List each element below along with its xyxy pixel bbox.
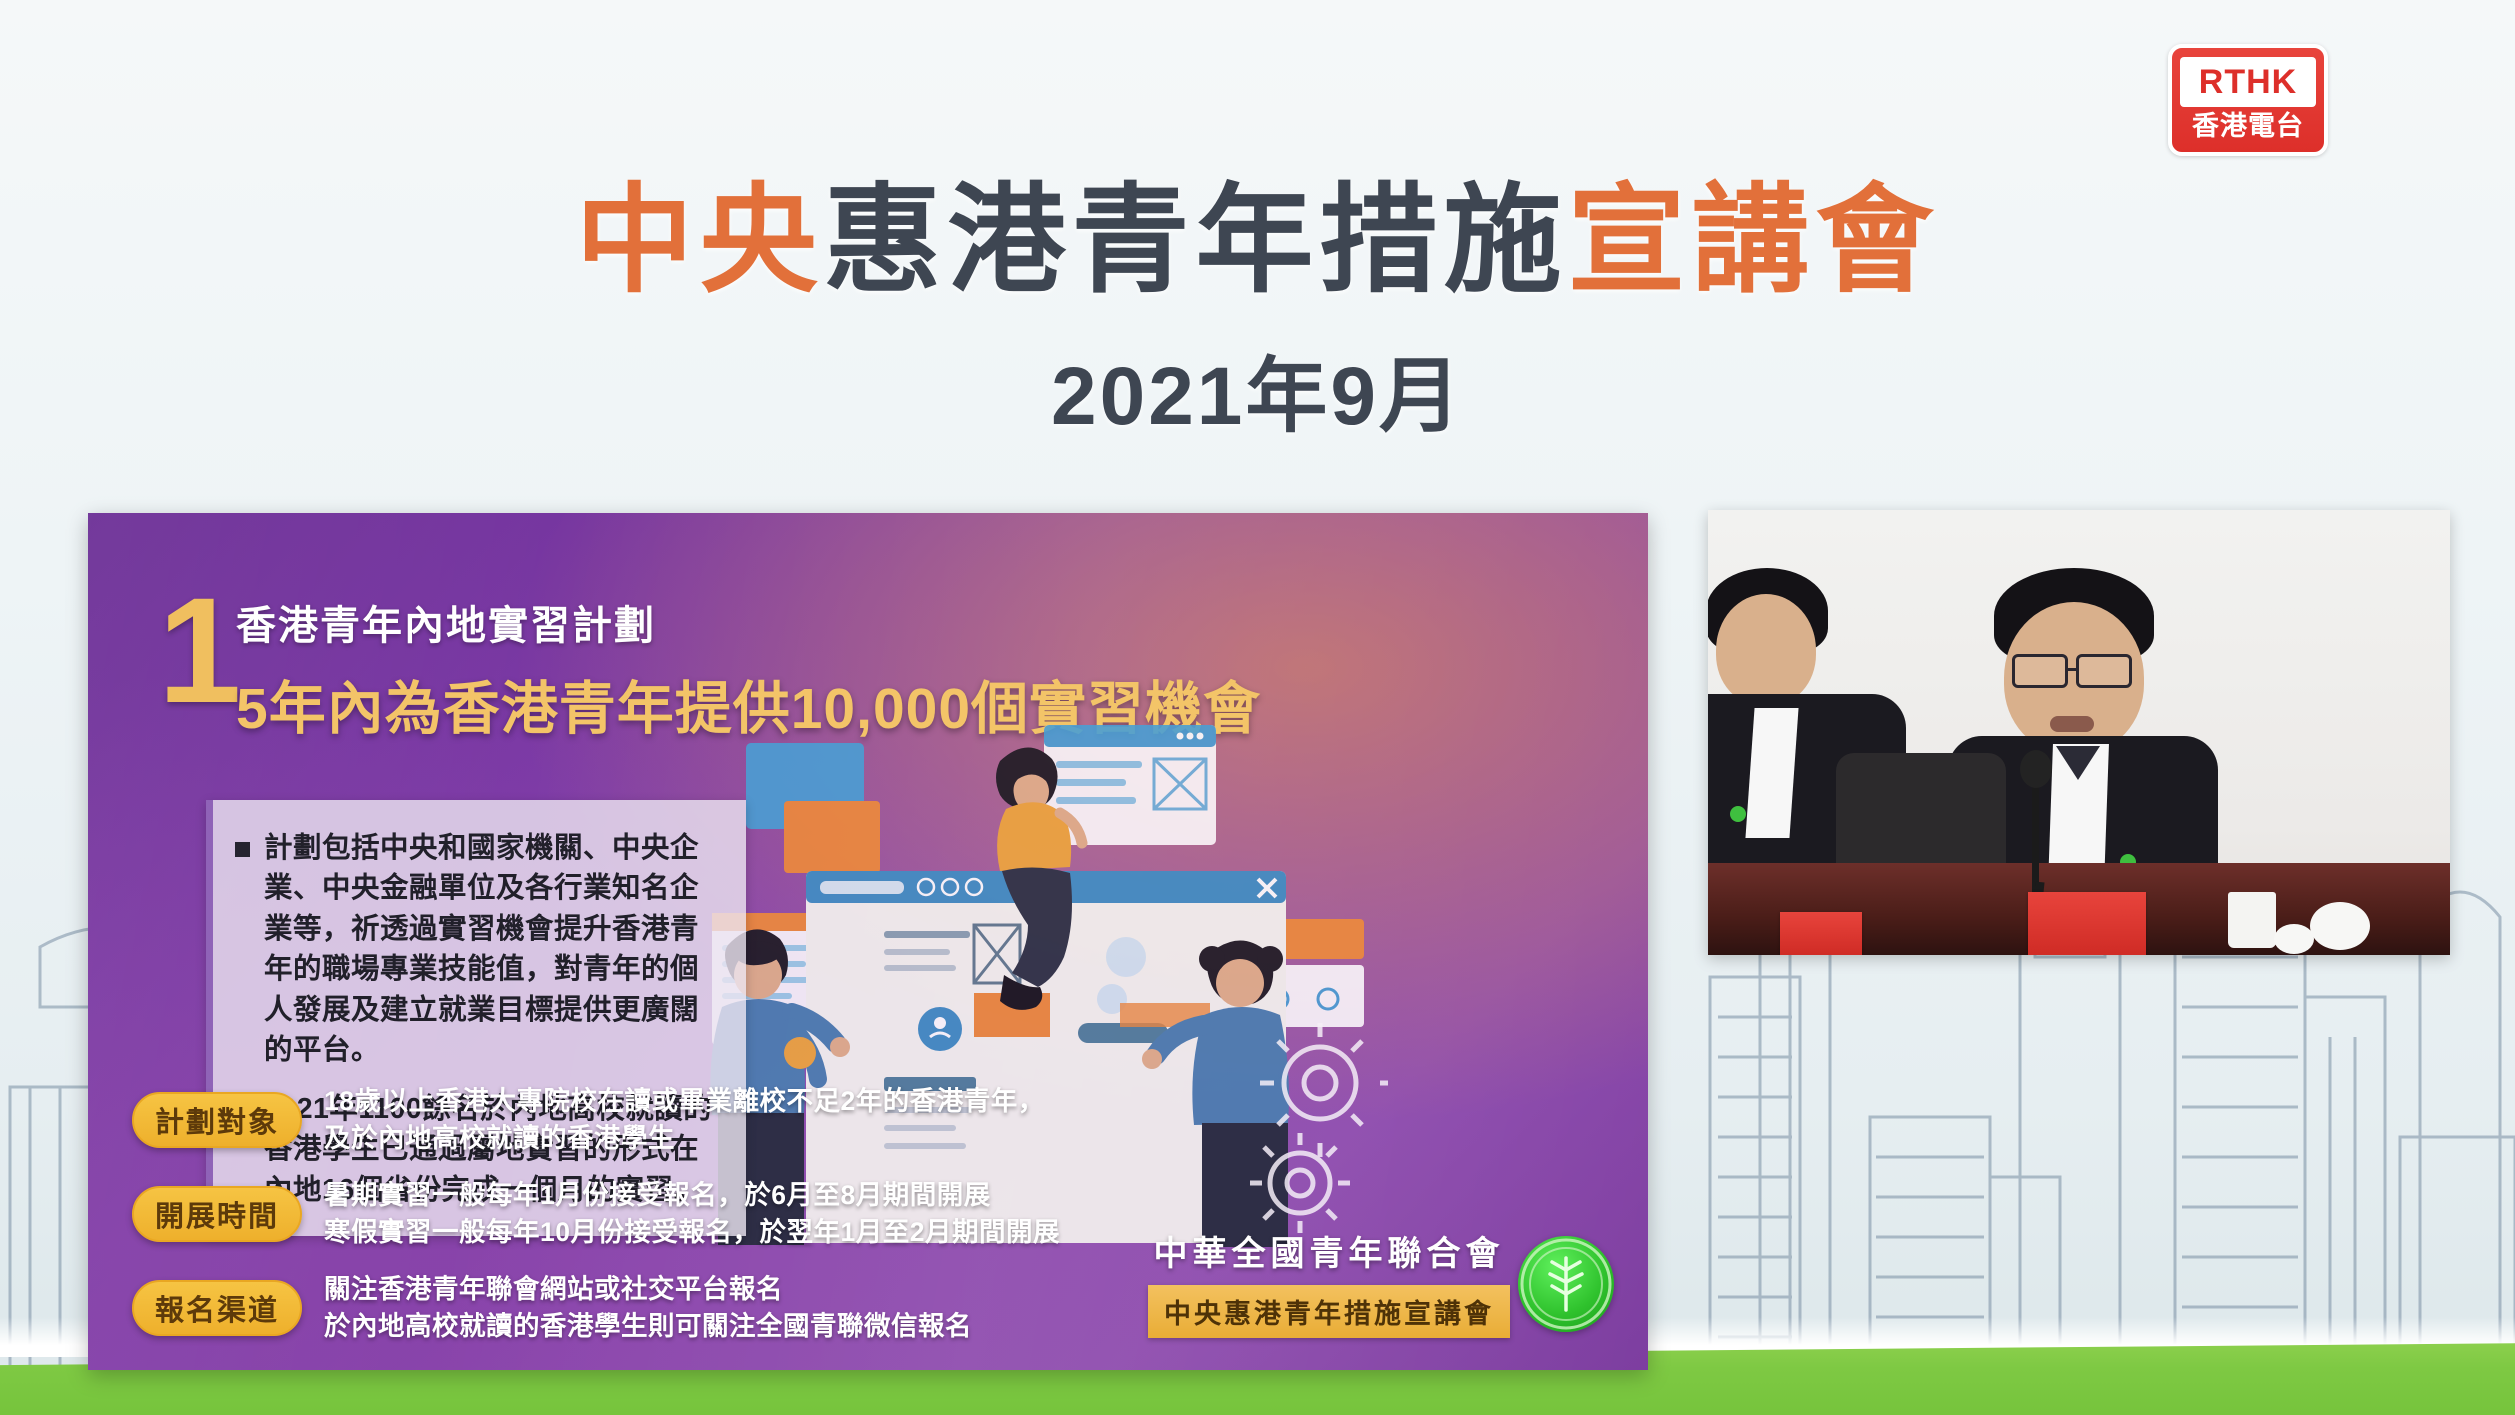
title-segment-orange-1: 中央 — [575, 175, 823, 307]
speaker-glasses-icon — [2076, 654, 2132, 688]
brand-event-band: 中央惠港青年措施宣講會 — [1148, 1285, 1510, 1338]
saucer — [2274, 924, 2314, 954]
broadcaster-logo: RTHK 香港電台 — [2168, 44, 2328, 156]
saucer — [2310, 902, 2370, 950]
detail-row-line: 18歲以上香港大專院校在讀或畢業離校不足2年的香港青年， — [324, 1083, 1045, 1120]
secondary-head — [1716, 594, 1816, 706]
programme-title-block: 中央惠港青年措施宣講會 2021年9月 — [0, 178, 2515, 448]
detail-row: 開展時間 暑期實習一般每年1月份接受報名，於6月至8月期間開展 寒假實習一般每年… — [132, 1177, 1232, 1251]
title-segment-dark: 惠港青年措施 — [823, 175, 1567, 307]
detail-row-label: 計劃對象 — [132, 1092, 302, 1148]
brand-organization: 中華全國青年聯合會 — [1148, 1226, 1510, 1275]
broadcaster-chinese-name: 香港電台 — [2192, 113, 2304, 140]
bullet-square-icon — [235, 842, 250, 857]
detail-row-text: 18歲以上香港大專院校在讀或畢業離校不足2年的香港青年， 及於內地高校就讀的香港… — [324, 1083, 1045, 1157]
speaker-mouth — [2050, 716, 2094, 732]
detail-row-line: 寒假實習一般每年10月份接受報名，於翌年1月至2月期間開展 — [324, 1214, 1060, 1251]
detail-row-line: 暑期實習一般每年1月份接受報名，於6月至8月期間開展 — [324, 1177, 1060, 1214]
seal-tree-glyph — [1518, 1236, 1614, 1332]
slide-eyebrow: 香港青年內地實習計劃 — [236, 593, 1261, 651]
bullet-text: 計劃包括中央和國家機關、中央企業、中央金融單位及各行業知名企業等，祈透過實習機會… — [264, 828, 720, 1071]
speaker-glasses-bridge — [2068, 668, 2078, 671]
detail-row: 報名渠道 關注香港青年聯會網站或社交平台報名 於內地高校就讀的香港學生則可關注全… — [132, 1271, 1232, 1345]
detail-row-label: 報名渠道 — [132, 1280, 302, 1336]
broadcast-screen: RTHK 香港電台 中央惠港青年措施宣講會 2021年9月 1 香港青年內地實習… — [0, 0, 2515, 1415]
live-video-feed — [1708, 510, 2450, 955]
title-segment-orange-2: 宣講會 — [1568, 175, 1940, 307]
secondary-shirt — [1745, 708, 1798, 838]
detail-row-label: 開展時間 — [132, 1186, 302, 1242]
detail-row-line: 於內地高校就讀的香港學生則可關注全國青聯微信報名 — [324, 1308, 972, 1345]
detail-row: 計劃對象 18歲以上香港大專院校在讀或畢業離校不足2年的香港青年， 及於內地高校… — [132, 1083, 1232, 1157]
slide-brand-footer: 中華全國青年聯合會 中央惠港青年措施宣講會 — [1148, 1226, 1510, 1338]
speaker-glasses-icon — [2012, 654, 2068, 688]
page-title: 中央惠港青年措施宣講會 — [0, 178, 2515, 305]
video-chair-back — [1836, 753, 2006, 863]
name-plate — [1780, 912, 1862, 955]
secondary-lapel-pin-icon — [1730, 806, 1746, 822]
slide-detail-rows: 計劃對象 18歲以上香港大專院校在讀或畢業離校不足2年的香港青年， 及於內地高校… — [132, 1083, 1232, 1366]
organization-seal-icon — [1518, 1236, 1614, 1332]
microphone-stand — [2032, 772, 2039, 892]
detail-row-text: 暑期實習一般每年1月份接受報名，於6月至8月期間開展 寒假實習一般每年10月份接… — [324, 1177, 1060, 1251]
name-plate — [2028, 892, 2146, 955]
slide-number: 1 — [158, 589, 241, 712]
presentation-slide: 1 香港青年內地實習計劃 5年內為香港青年提供10,000個實習機會 — [88, 513, 1648, 1370]
broadcaster-acronym-box: RTHK — [2180, 57, 2316, 107]
broadcaster-acronym: RTHK — [2199, 63, 2297, 102]
detail-row-text: 關注香港青年聯會網站或社交平台報名 於內地高校就讀的香港學生則可關注全國青聯微信… — [324, 1271, 972, 1345]
microphone-head-icon — [2020, 750, 2052, 788]
detail-row-line: 關注香港青年聯會網站或社交平台報名 — [324, 1271, 972, 1308]
title-date: 2021年9月 — [0, 329, 2515, 448]
detail-row-line: 及於內地高校就讀的香港學生 — [324, 1120, 1045, 1157]
bullet-item: 計劃包括中央和國家機關、中央企業、中央金融單位及各行業知名企業等，祈透過實習機會… — [235, 828, 720, 1071]
water-cup — [2228, 892, 2276, 948]
